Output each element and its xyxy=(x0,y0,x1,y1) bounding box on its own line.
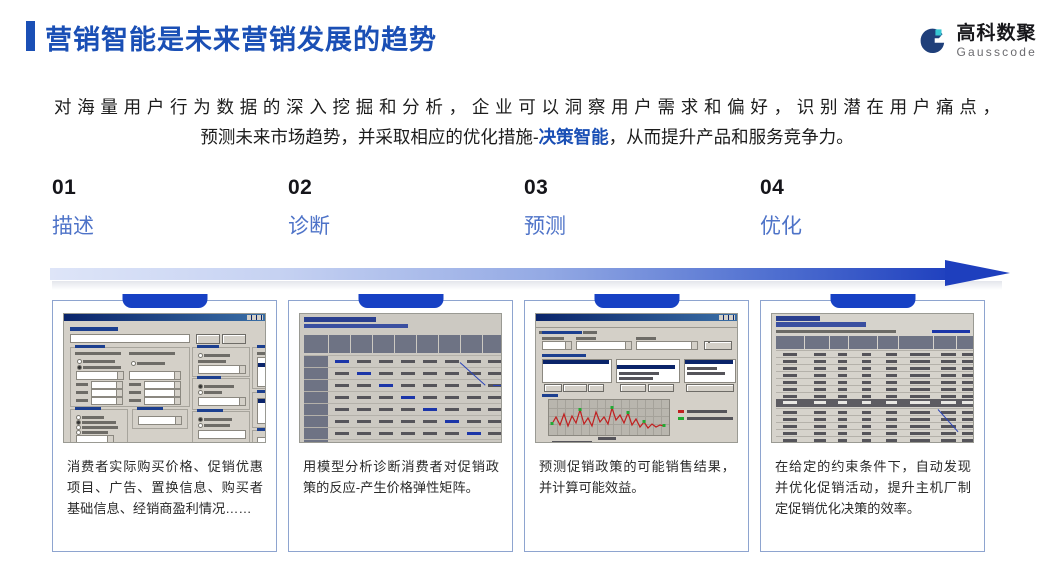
step-number: 03 xyxy=(524,176,724,200)
brand-logo-text: 高科数聚 Gausscode xyxy=(956,24,1037,58)
brand-name-en: Gausscode xyxy=(956,46,1037,58)
stage-card-1[interactable]: 消费者实际购买价格、促销优惠项目、广告、置换信息、购买者基础信息、经销商盈利情况… xyxy=(52,300,277,552)
slide-header: 营销智能是未来营销发展的趋势 高科数聚 Gausscode xyxy=(0,0,1051,72)
stage-card-2[interactable]: 用模型分析诊断消费者对促销政策的反应-产生价格弹性矩阵。 xyxy=(288,300,513,552)
step-item-4: 04 优化 xyxy=(760,176,960,240)
brand-logo: 高科数聚 Gausscode xyxy=(918,21,1037,61)
card-caption: 预测促销政策的可能销售结果，并计算可能效益。 xyxy=(539,456,735,498)
brand-name-cn: 高科数聚 xyxy=(956,24,1037,43)
arrow-shadow xyxy=(52,281,1002,290)
step-label-row: 01 描述 02 诊断 03 预测 04 优化 xyxy=(0,176,1051,254)
step-label: 优化 xyxy=(760,214,960,240)
step-label: 诊断 xyxy=(288,214,488,240)
step-number: 04 xyxy=(760,176,960,200)
slide-root: 营销智能是未来营销发展的趋势 高科数聚 Gausscode 对海量用户行为数据的… xyxy=(0,0,1051,586)
intro-highlight: 决策智能 xyxy=(539,127,609,147)
card-caption: 在给定的约束条件下，自动发现并优化促销活动，提升主机厂制定促销优化决策的效率。 xyxy=(775,456,971,519)
gausscode-g-logo-icon xyxy=(918,26,948,56)
step-item-3: 03 预测 xyxy=(524,176,724,240)
card-tab-marker xyxy=(830,294,915,308)
optimal-rebate-program-selection-table xyxy=(771,313,974,443)
page-title: 营销智能是未来营销发展的趋势 xyxy=(45,18,437,57)
intro-line-2: 预测未来市场趋势，并采取相应的优化措施-决策智能，从而提升产品和服务竞争力。 xyxy=(52,122,1002,152)
stage-card-3[interactable]: 预测促销政策的可能销售结果，并计算可能效益。 xyxy=(524,300,749,552)
step-label: 预测 xyxy=(524,214,724,240)
right-arrow-gradient-icon xyxy=(945,260,1010,286)
card-tab-marker xyxy=(122,294,207,308)
rebate-program-description-dialog xyxy=(63,313,266,443)
simulation-forecast-chart-window xyxy=(535,313,738,443)
arrow-shaft xyxy=(50,268,955,280)
rebate-elasticity-matrix-table xyxy=(299,313,502,443)
intro-line-1: 对海量用户行为数据的深入挖掘和分析，企业可以洞察用户需求和偏好，识别潜在用户痛点… xyxy=(52,92,1002,122)
step-number: 01 xyxy=(52,176,252,200)
card-tab-marker xyxy=(358,294,443,308)
intro-line-2-before: 预测未来市场趋势，并采取相应的优化措施- xyxy=(200,127,538,147)
card-caption: 用模型分析诊断消费者对促销政策的反应-产生价格弹性矩阵。 xyxy=(303,456,499,498)
step-number: 02 xyxy=(288,176,488,200)
title-accent-bar xyxy=(26,21,35,51)
card-caption: 消费者实际购买价格、促销优惠项目、广告、置换信息、购买者基础信息、经销商盈利情况… xyxy=(67,456,263,519)
step-item-2: 02 诊断 xyxy=(288,176,488,240)
step-label: 描述 xyxy=(52,214,252,240)
step-item-1: 01 描述 xyxy=(52,176,252,240)
progress-arrow xyxy=(50,262,1010,292)
intro-paragraph: 对海量用户行为数据的深入挖掘和分析，企业可以洞察用户需求和偏好，识别潜在用户痛点… xyxy=(52,92,1002,152)
card-tab-marker xyxy=(594,294,679,308)
stage-card-4[interactable]: 在给定的约束条件下，自动发现并优化促销活动，提升主机厂制定促销优化决策的效率。 xyxy=(760,300,985,552)
intro-line-2-after: ，从而提升产品和服务竞争力。 xyxy=(609,127,854,147)
